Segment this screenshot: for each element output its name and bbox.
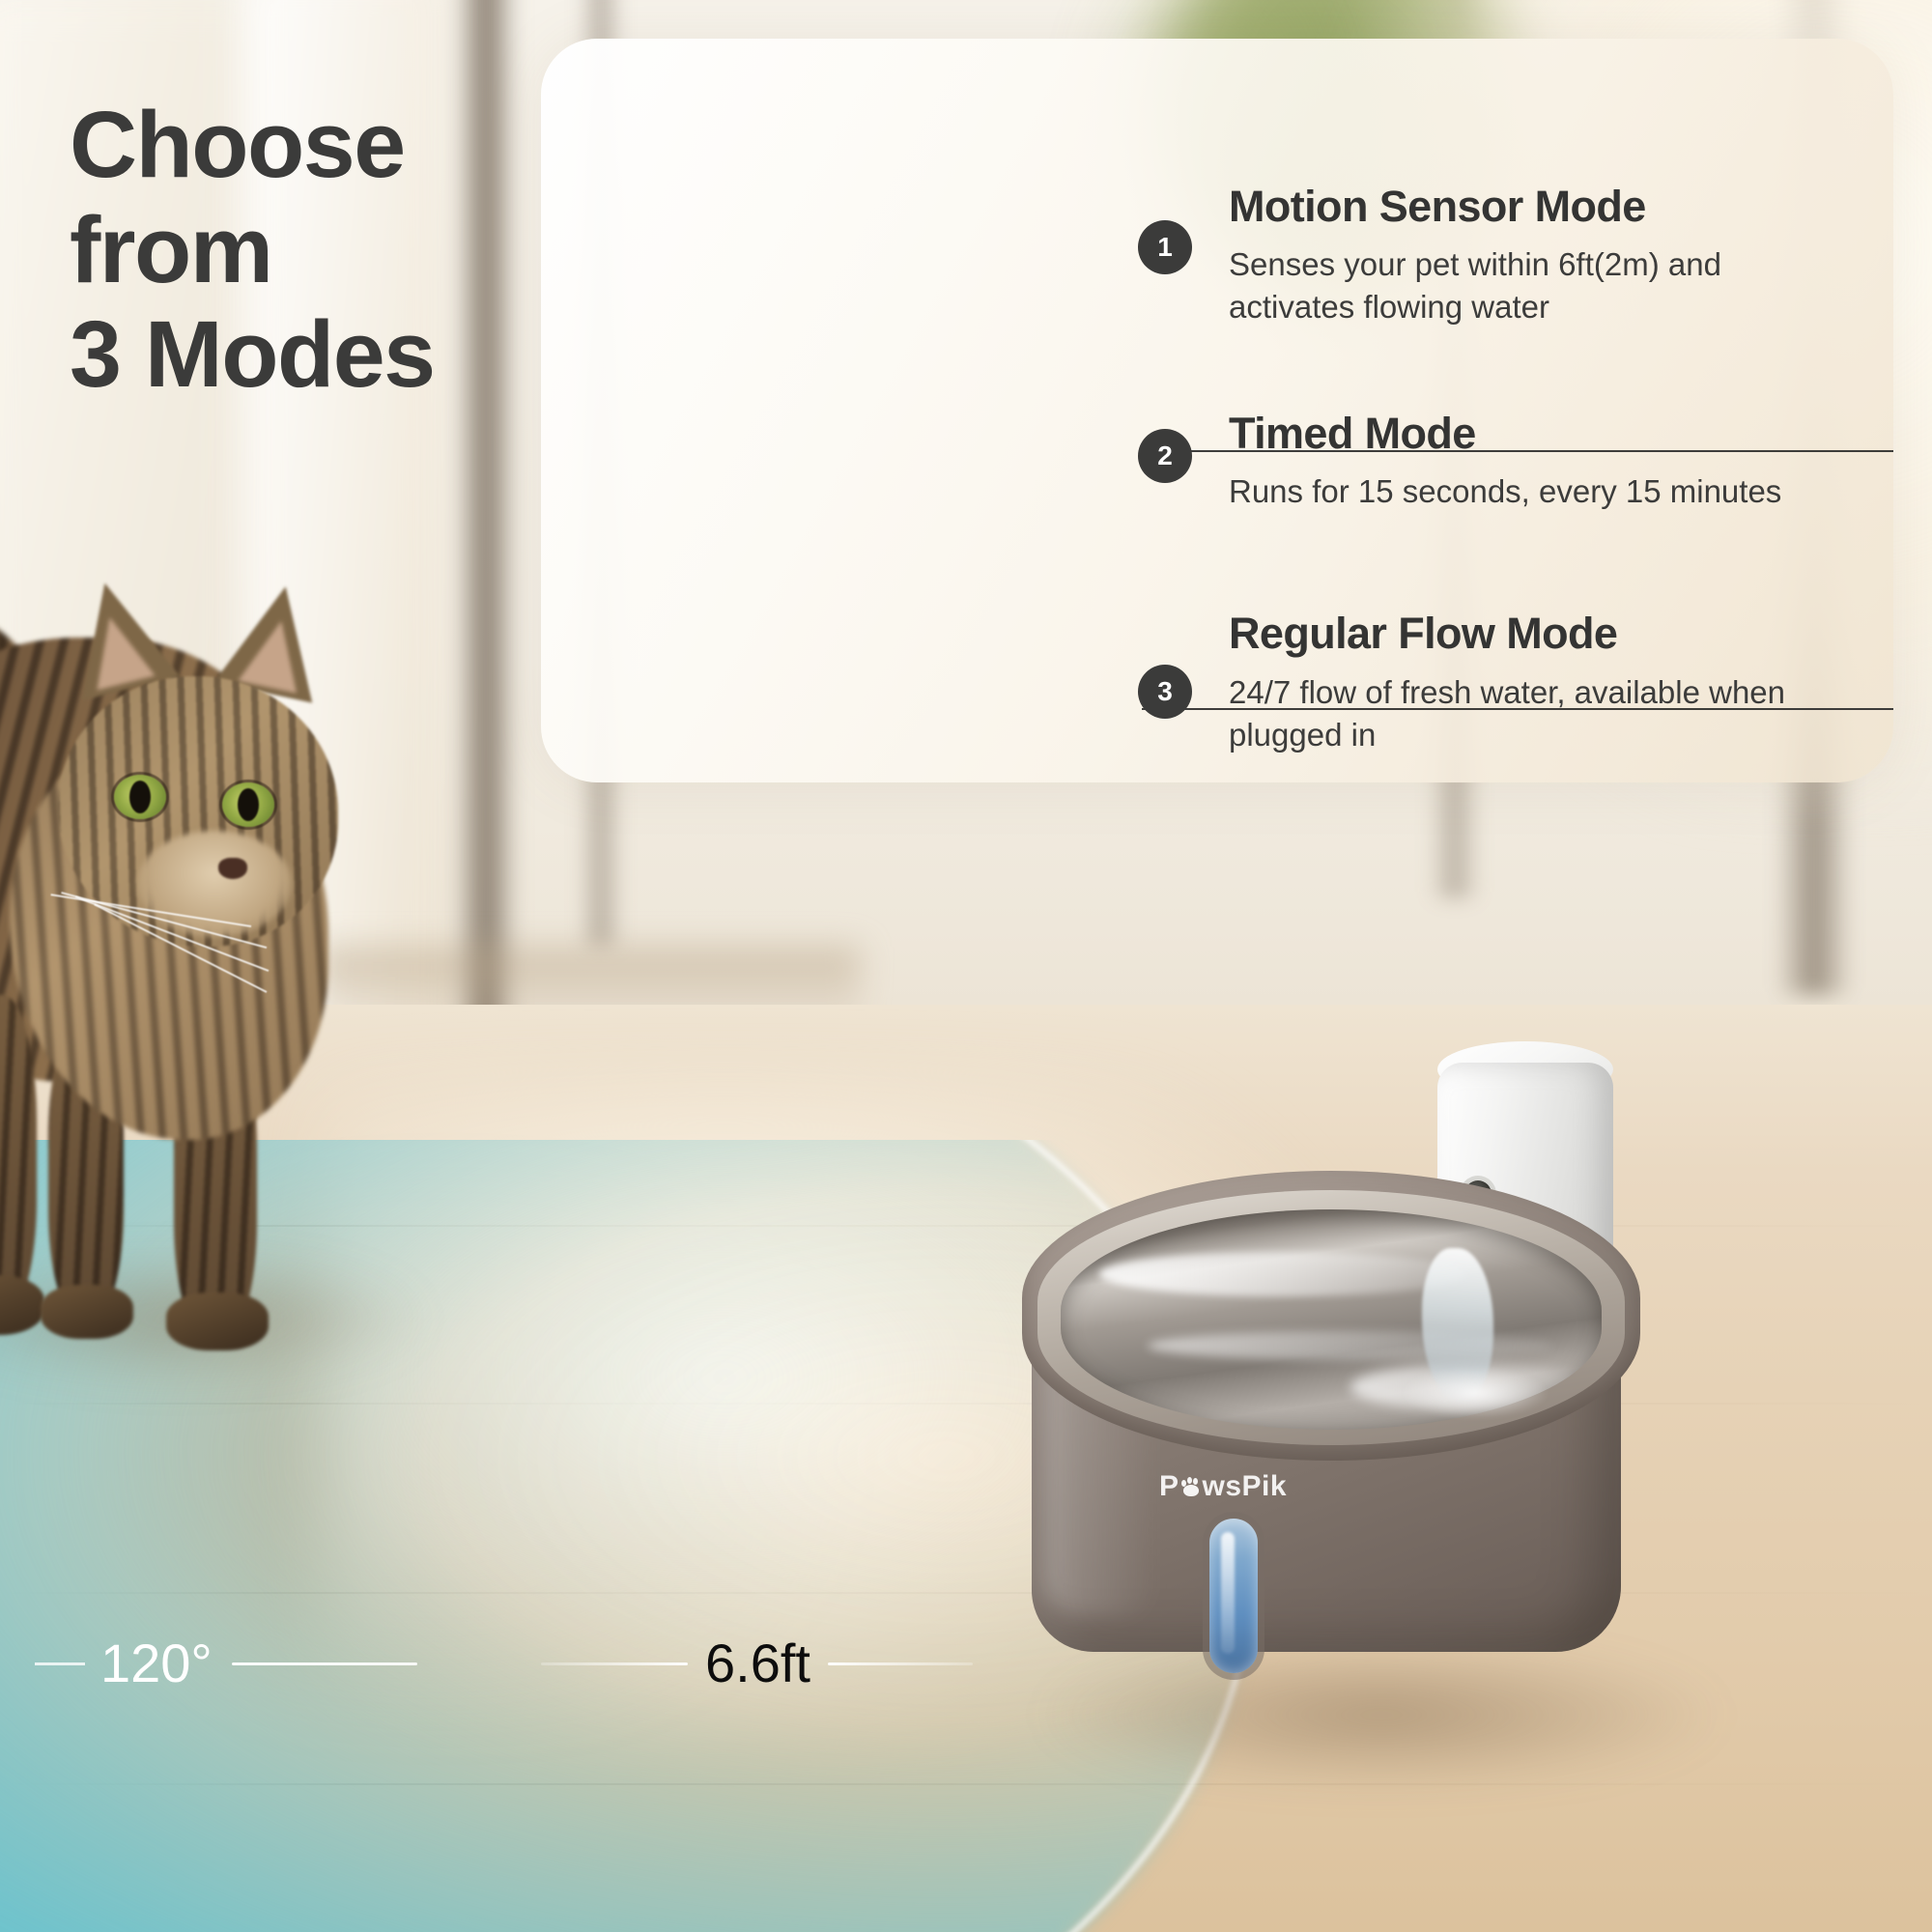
paw-print-icon: [1180, 1476, 1202, 1497]
cat-pupil-left: [129, 781, 151, 813]
mode-description-3: 24/7 flow of fresh water, available when…: [1229, 671, 1785, 756]
modes-card: 1 Motion Sensor Mode Senses your pet wit…: [541, 39, 1893, 782]
mode-title-2: Timed Mode: [1229, 409, 1476, 459]
brand-logo-prefix: P: [1159, 1470, 1179, 1503]
brand-logo-suffix: wsPik: [1203, 1470, 1288, 1503]
mode-description-1: Senses your pet within 6ft(2m) and activ…: [1229, 243, 1721, 328]
mode-badge-3: 3: [1138, 665, 1192, 719]
mode-title-3: Regular Flow Mode: [1229, 609, 1617, 659]
cat-paw: [166, 1293, 269, 1350]
mode-badge-number: 1: [1157, 234, 1173, 261]
distance-leader-line-right: [828, 1662, 973, 1665]
cat-paw: [41, 1285, 133, 1339]
angle-tick-icon: [35, 1662, 85, 1665]
mode-title-1: Motion Sensor Mode: [1229, 182, 1646, 232]
brand-logo: P wsPik: [1159, 1470, 1287, 1503]
mode-badge-2: 2: [1138, 429, 1192, 483]
angle-leader-line: [232, 1662, 417, 1665]
poster-canvas: Choose from 3 Modes 1 Motion Sensor Mode…: [0, 0, 1932, 1932]
product-pet-fountain: P wsPik: [1005, 1101, 1758, 1797]
page-title: Choose from 3 Modes: [70, 93, 572, 408]
distance-leader-line-left: [541, 1662, 688, 1665]
fountain-shadow: [1043, 1642, 1719, 1787]
cat-photo: [0, 541, 502, 1391]
mode-description-2: Runs for 15 seconds, every 15 minutes: [1229, 470, 1781, 513]
distance-measurement: 6.6ft: [541, 1636, 973, 1690]
angle-measurement: 120°: [35, 1636, 417, 1690]
modes-card-inner: 1 Motion Sensor Mode Senses your pet wit…: [541, 39, 1893, 782]
water-splash: [1403, 1368, 1548, 1418]
mode-badge-1: 1: [1138, 220, 1192, 274]
mode-badge-number: 2: [1157, 442, 1173, 469]
water-sheen: [1099, 1252, 1466, 1296]
mode-badge-number: 3: [1157, 678, 1173, 705]
cat-nose: [218, 858, 247, 879]
distance-label: 6.6ft: [705, 1636, 810, 1690]
cat-paw: [0, 1275, 44, 1335]
angle-label: 120°: [100, 1636, 213, 1690]
water-level-window-highlight: [1221, 1532, 1235, 1654]
cat-pupil-right: [238, 788, 259, 821]
